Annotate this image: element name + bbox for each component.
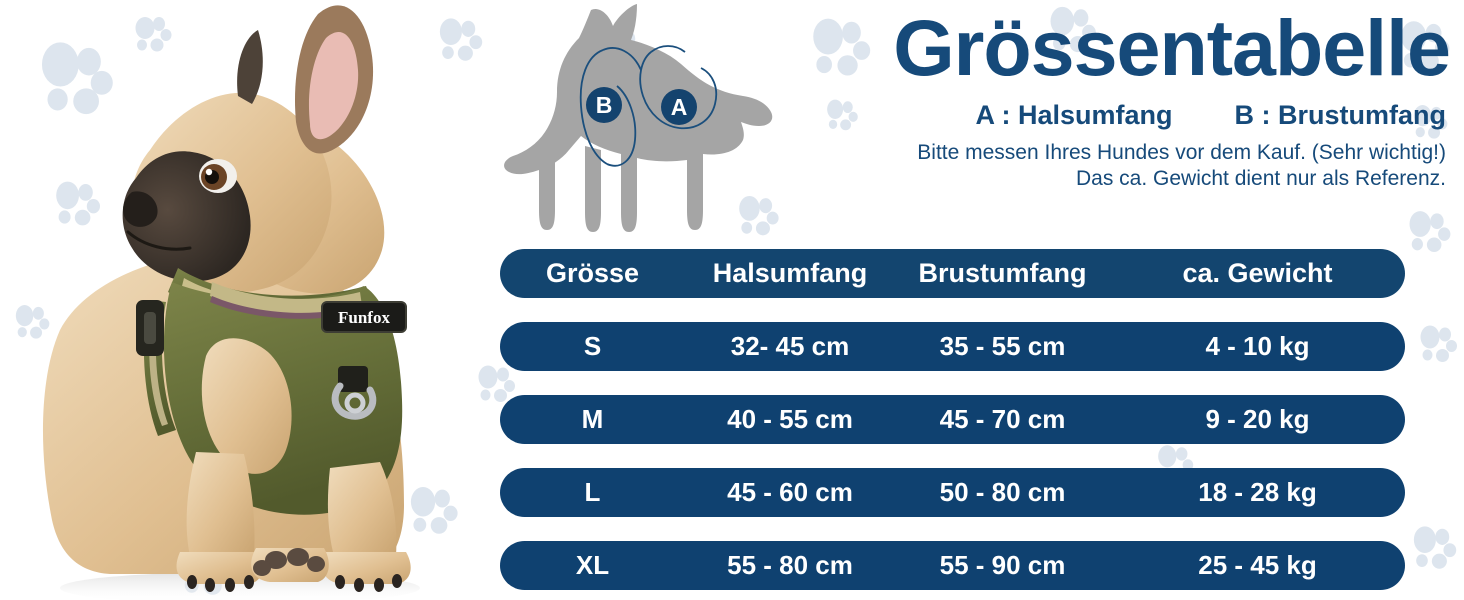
dog-silhouette-icon bbox=[495, 0, 785, 240]
table-row: M 40 - 55 cm 45 - 70 cm 9 - 20 kg bbox=[500, 395, 1405, 444]
measurement-badge-a: A bbox=[661, 89, 697, 125]
harness-buckle-slot bbox=[144, 312, 156, 344]
legend-item-b: B : Brustumfang bbox=[1235, 100, 1447, 131]
measurement-badge-b: B bbox=[586, 87, 622, 123]
measurement-diagram: B A bbox=[495, 0, 785, 240]
cell-weight: 25 - 45 kg bbox=[1110, 550, 1405, 581]
table-header-row: Grösse Halsumfang Brustumfang ca. Gewich… bbox=[500, 249, 1405, 298]
measurement-legend: A : Halsumfang B : Brustumfang bbox=[770, 100, 1450, 131]
table-row: S 32- 45 cm 35 - 55 cm 4 - 10 kg bbox=[500, 322, 1405, 371]
page-title: Grössentabelle bbox=[770, 8, 1450, 89]
brand-patch-label: Funfox bbox=[338, 308, 390, 327]
cell-chest: 50 - 80 cm bbox=[895, 477, 1110, 508]
cell-chest: 45 - 70 cm bbox=[895, 404, 1110, 435]
cell-size: XL bbox=[500, 550, 685, 581]
column-header-size: Grösse bbox=[500, 258, 685, 289]
paw-print-icon bbox=[1412, 320, 1462, 370]
cell-size: S bbox=[500, 331, 685, 362]
dog-eye-highlight bbox=[206, 169, 212, 175]
cell-neck: 40 - 55 cm bbox=[685, 404, 895, 435]
cell-chest: 35 - 55 cm bbox=[895, 331, 1110, 362]
cell-neck: 32- 45 cm bbox=[685, 331, 895, 362]
cell-neck: 45 - 60 cm bbox=[685, 477, 895, 508]
dog-front-leg-left bbox=[187, 452, 255, 556]
cell-chest: 55 - 90 cm bbox=[895, 550, 1110, 581]
size-table: Grösse Halsumfang Brustumfang ca. Gewich… bbox=[500, 249, 1405, 600]
column-header-weight: ca. Gewicht bbox=[1110, 258, 1405, 289]
legend-item-a: A : Halsumfang bbox=[975, 100, 1172, 131]
dog-ear-far bbox=[237, 30, 263, 104]
cell-neck: 55 - 80 cm bbox=[685, 550, 895, 581]
table-row: L 45 - 60 cm 50 - 80 cm 18 - 28 kg bbox=[500, 468, 1405, 517]
measuring-note-line-2: Das ca. Gewicht dient nur als Referenz. bbox=[770, 166, 1446, 193]
paw-print-icon bbox=[1404, 520, 1462, 578]
column-header-neck: Halsumfang bbox=[685, 258, 895, 289]
column-header-chest: Brustumfang bbox=[895, 258, 1110, 289]
measuring-note-line-1: Bitte messen Ihres Hundes vor dem Kauf. … bbox=[770, 140, 1446, 167]
cell-size: L bbox=[500, 477, 685, 508]
size-chart-banner: Funfox bbox=[0, 0, 1464, 600]
product-photo-dog-with-harness: Funfox bbox=[0, 0, 480, 600]
cell-weight: 4 - 10 kg bbox=[1110, 331, 1405, 362]
cell-weight: 9 - 20 kg bbox=[1110, 404, 1405, 435]
table-row: XL 55 - 80 cm 55 - 90 cm 25 - 45 kg bbox=[500, 541, 1405, 590]
cell-size: M bbox=[500, 404, 685, 435]
measuring-note: Bitte messen Ihres Hundes vor dem Kauf. … bbox=[770, 140, 1450, 194]
cell-weight: 18 - 28 kg bbox=[1110, 477, 1405, 508]
dog-silhouette-shape bbox=[504, 4, 772, 232]
header-text-block: Grössentabelle A : Halsumfang B : Brustu… bbox=[770, 8, 1450, 193]
paw-print-icon bbox=[1400, 205, 1456, 261]
